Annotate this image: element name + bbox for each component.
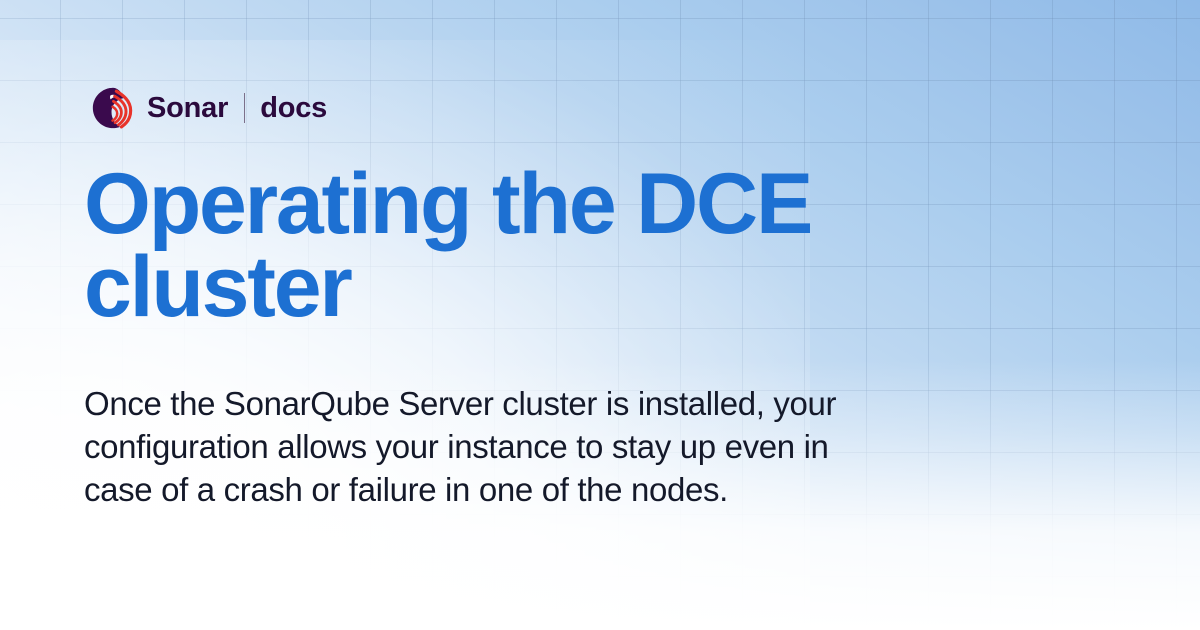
og-card: Sonar docs Operating the DCE cluster Onc… [0,0,1200,630]
page-description: Once the SonarQube Server cluster is ins… [84,383,894,512]
brand-name: Sonar [147,94,228,123]
brand-divider [244,93,245,123]
brand-lockup: Sonar docs [92,86,327,130]
brand-product: docs [260,94,327,123]
sonar-logo-icon [92,87,134,129]
page-title: Operating the DCE cluster [84,163,964,328]
